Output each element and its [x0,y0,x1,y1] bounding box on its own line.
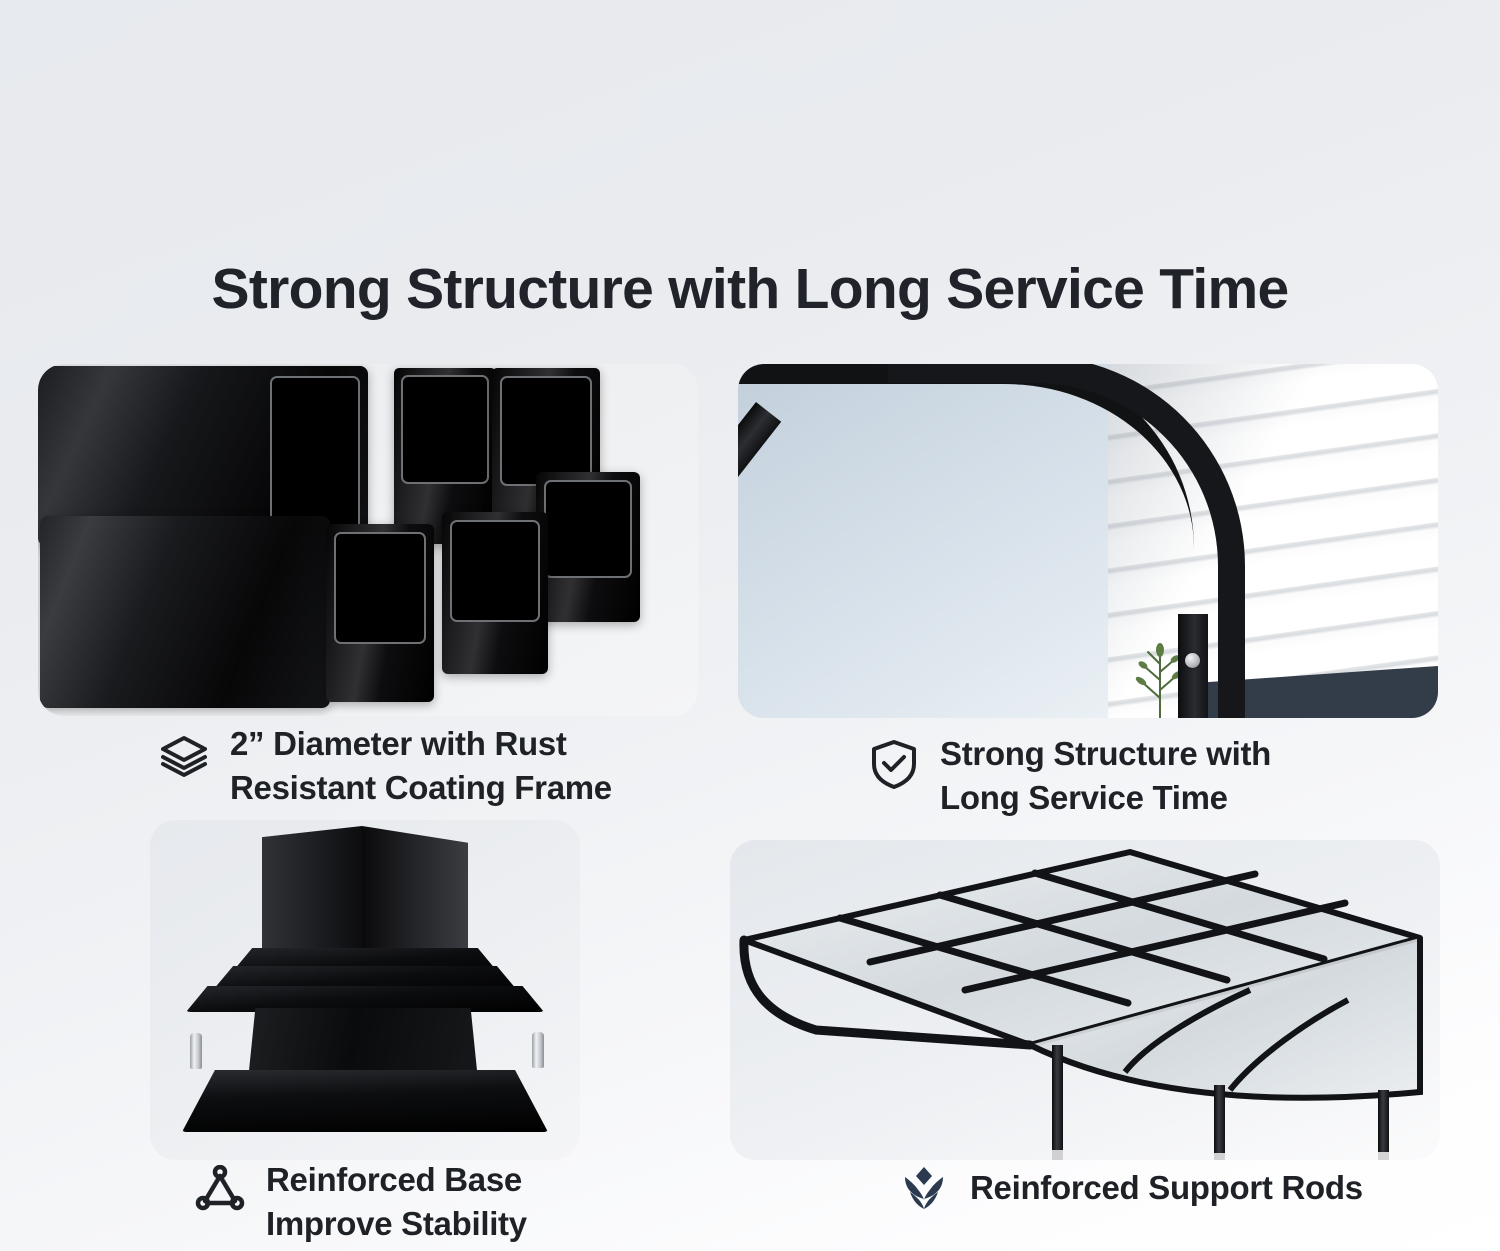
anchor-bolt-left [190,1033,202,1069]
feature-label: Strong Structure with Long Service Time [940,732,1271,820]
tube-bottom-right [442,512,548,674]
tube-opening [544,480,632,578]
page-title: Strong Structure with Long Service Time [0,256,1500,322]
tube-opening [270,376,360,530]
layers-icon [156,728,212,784]
tube-mid-right [536,472,640,622]
image-awning-corner [738,364,1438,718]
feature-label: 2” Diameter with Rust Resistant Coating … [230,722,612,810]
image-carport-render [730,840,1440,1160]
feature-item-rods: Reinforced Support Rods [896,1160,1363,1216]
support-leg-3 [1378,1090,1389,1152]
triangle-nodes-icon [192,1162,248,1218]
tube-opening [450,520,540,622]
anchor-bolt-right [532,1032,544,1068]
tube-bottom-mid [326,524,434,702]
support-leg-2 [1214,1085,1225,1153]
feature-item-tubes: 2” Diameter with Rust Resistant Coating … [156,722,612,810]
carport-drawing [730,840,1440,1160]
support-leg-1 [1052,1045,1063,1150]
feature-item-strong: Strong Structure with Long Service Time [866,732,1271,820]
shield-check-icon [866,736,922,792]
tube-bottom-left [40,516,330,708]
wheat-badge-icon [896,1160,952,1216]
tube-opening [334,532,426,644]
feature-label: Reinforced Base Improve Stability [266,1158,527,1246]
ground-plate [182,1070,548,1132]
image-reinforced-base [150,820,580,1160]
tube-opening [401,375,489,484]
feature-label: Reinforced Support Rods [970,1166,1363,1210]
tube-opening [500,376,592,486]
infographic-page: Strong Structure with Long Service Time [0,0,1500,1251]
bolt-icon [1185,653,1200,668]
image-steel-tubes [38,364,698,716]
feature-item-base: Reinforced Base Improve Stability [192,1158,527,1246]
